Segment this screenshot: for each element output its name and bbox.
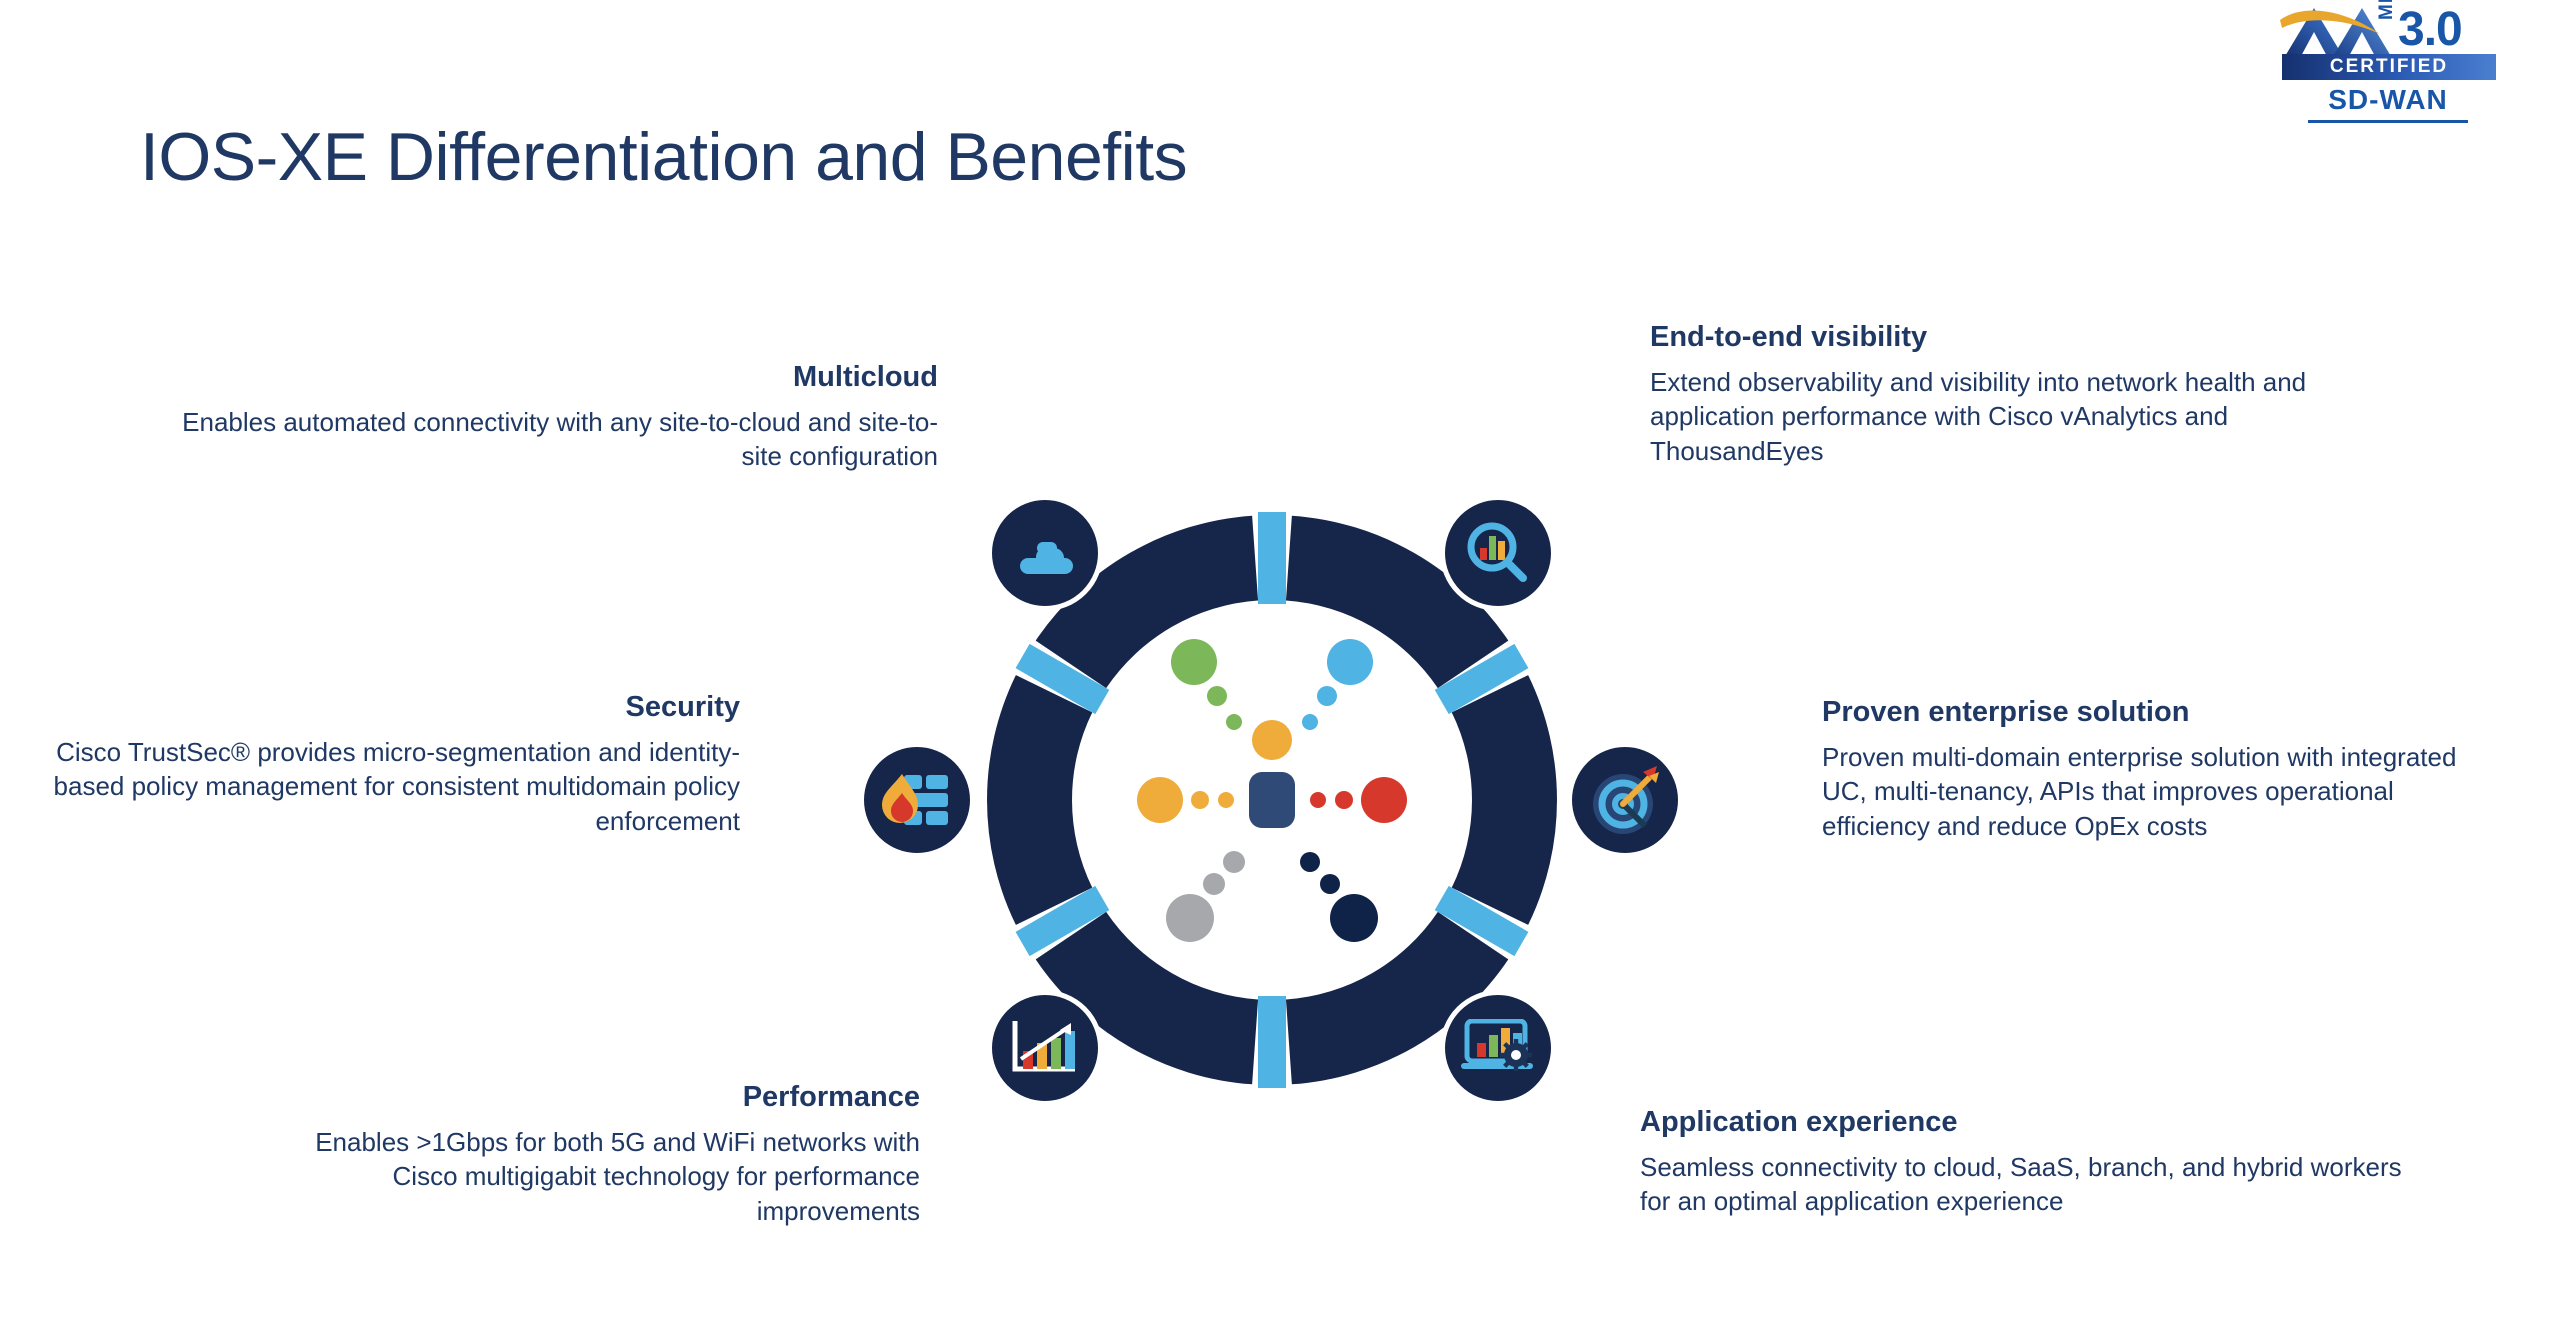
slide-canvas: IOS-XE Differentiation and Benefits MEF …: [0, 0, 2554, 1328]
firewall-flame-icon-badge[interactable]: [859, 742, 975, 858]
benefit-block-performance: Performance Enables >1Gbps for both 5G a…: [260, 1080, 920, 1229]
mef-brand-text: MEF: [2376, 0, 2398, 20]
firewall-flame-icon: [882, 773, 952, 827]
benefit-body-application-experience: Seamless connectivity to cloud, SaaS, br…: [1640, 1150, 2420, 1219]
mef-certified-text: CERTIFIED: [2282, 54, 2496, 80]
magnifier-bar-chart-icon: [1465, 520, 1531, 586]
mef-certified-sdwan-logo: MEF 3.0 CERTIFIED SD-WAN: [2280, 4, 2500, 124]
benefit-title-security: Security: [40, 690, 740, 725]
mef-version-text: 3.0: [2398, 2, 2462, 57]
cloud-icon: [1013, 528, 1077, 578]
benefit-block-application-experience: Application experience Seamless connecti…: [1640, 1105, 2420, 1219]
benefits-ring-diagram: [922, 330, 1622, 1270]
mef-product-text: SD-WAN: [2280, 84, 2496, 116]
target-arrow-icon-badge[interactable]: [1567, 742, 1683, 858]
benefit-block-multicloud: Multicloud Enables automated connectivit…: [178, 360, 938, 474]
benefit-title-proven-enterprise-solution: Proven enterprise solution: [1822, 695, 2462, 730]
benefit-block-end-to-end-visibility: End-to-end visibility Extend observabili…: [1650, 320, 2390, 469]
target-arrow-icon: [1589, 764, 1661, 836]
laptop-chart-gear-icon-badge[interactable]: [1440, 990, 1556, 1106]
magnifier-bar-chart-icon-badge[interactable]: [1440, 495, 1556, 611]
growth-bar-chart-icon-badge[interactable]: [987, 990, 1103, 1106]
benefit-title-multicloud: Multicloud: [178, 360, 938, 395]
benefit-title-performance: Performance: [260, 1080, 920, 1115]
benefit-body-performance: Enables >1Gbps for both 5G and WiFi netw…: [260, 1125, 920, 1229]
hub-node: [1249, 772, 1295, 828]
benefit-body-proven-enterprise-solution: Proven multi-domain enterprise solution …: [1822, 740, 2462, 844]
benefit-title-application-experience: Application experience: [1640, 1105, 2420, 1140]
benefit-body-multicloud: Enables automated connectivity with any …: [178, 405, 938, 474]
ring-graphic: [922, 330, 1622, 1270]
laptop-chart-gear-icon: [1461, 1019, 1535, 1077]
hub-and-spoke-network-icon: [1137, 639, 1407, 942]
page-title: IOS-XE Differentiation and Benefits: [140, 118, 1187, 196]
benefit-body-end-to-end-visibility: Extend observability and visibility into…: [1650, 365, 2390, 469]
mef-certified-band: CERTIFIED: [2282, 54, 2496, 80]
benefit-block-security: Security Cisco TrustSec® provides micro-…: [40, 690, 740, 839]
benefit-title-end-to-end-visibility: End-to-end visibility: [1650, 320, 2390, 355]
cloud-icon-badge[interactable]: [987, 495, 1103, 611]
benefit-block-proven-enterprise-solution: Proven enterprise solution Proven multi-…: [1822, 695, 2462, 844]
benefit-body-security: Cisco TrustSec® provides micro-segmentat…: [40, 735, 740, 839]
mef-underline: [2308, 120, 2468, 123]
growth-bar-chart-icon: [1011, 1019, 1079, 1077]
